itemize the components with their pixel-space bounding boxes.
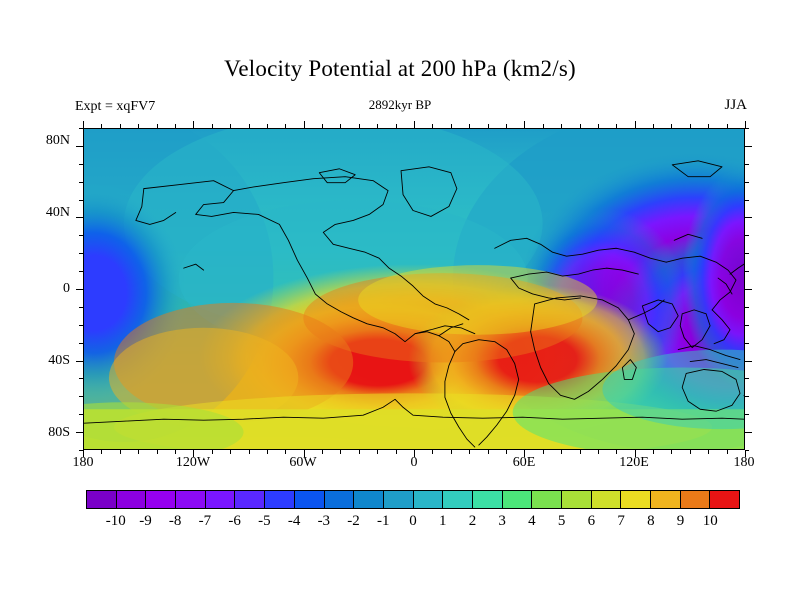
- y-tick: [79, 235, 83, 236]
- y-tick: [745, 164, 749, 165]
- colorbar-tick--2: -2: [347, 513, 360, 530]
- x-tick: [598, 450, 599, 454]
- x-tick: [506, 450, 507, 454]
- colorbar-cell-15: [532, 491, 562, 508]
- x-tick: [469, 124, 470, 128]
- x-tick: [212, 450, 213, 454]
- y-tick: [745, 253, 749, 254]
- colorbar-cell-8: [325, 491, 355, 508]
- x-tick: [359, 124, 360, 128]
- y-tick: [79, 325, 83, 326]
- x-tick: [267, 124, 268, 128]
- y-tick: [79, 396, 83, 397]
- x-tick: [524, 121, 525, 128]
- y-tick: [745, 325, 749, 326]
- colorbar-tick-10: 10: [703, 513, 718, 530]
- colorbar-cell-17: [592, 491, 622, 508]
- x-tick: [727, 450, 728, 454]
- experiment-label: Expt = xqFV7: [75, 99, 155, 115]
- x-tick: [488, 124, 489, 128]
- y-tick: [745, 200, 749, 201]
- x-tick: [671, 450, 672, 454]
- y-tick: [79, 200, 83, 201]
- y-tick: [79, 182, 83, 183]
- x-tick-label-0: 0: [411, 455, 418, 471]
- colorbar-tick-4: 4: [528, 513, 536, 530]
- y-tick: [79, 164, 83, 165]
- colorbar[interactable]: [86, 490, 740, 509]
- colorbar-tick--4: -4: [288, 513, 301, 530]
- y-tick: [745, 307, 749, 308]
- colorbar-cell-7: [295, 491, 325, 508]
- x-tick-label-180e: 180: [734, 455, 755, 471]
- x-tick: [543, 124, 544, 128]
- x-tick: [120, 450, 121, 454]
- x-tick: [635, 121, 636, 128]
- x-tick: [561, 450, 562, 454]
- y-tick: [79, 271, 83, 272]
- colorbar-tick--6: -6: [228, 513, 241, 530]
- x-tick: [175, 450, 176, 454]
- x-tick: [580, 124, 581, 128]
- y-tick-label-40s: 40S: [18, 353, 70, 369]
- page-title: Velocity Potential at 200 hPa (km2/s): [0, 56, 800, 82]
- x-tick: [212, 124, 213, 128]
- y-tick: [76, 217, 83, 218]
- x-tick: [580, 450, 581, 454]
- y-tick-label-40n: 40N: [18, 205, 70, 221]
- x-tick: [469, 450, 470, 454]
- y-tick: [79, 378, 83, 379]
- figure-canvas: Velocity Potential at 200 hPa (km2/s) 28…: [0, 0, 800, 600]
- x-tick: [671, 124, 672, 128]
- field-layer: [84, 129, 744, 449]
- colorbar-cell-14: [503, 491, 533, 508]
- y-tick: [745, 378, 749, 379]
- x-tick: [543, 450, 544, 454]
- y-tick: [79, 253, 83, 254]
- colorbar-cell-21: [710, 491, 739, 508]
- colorbar-tick--9: -9: [139, 513, 152, 530]
- y-tick: [79, 128, 83, 129]
- x-tick: [304, 450, 305, 457]
- x-tick: [598, 124, 599, 128]
- colorbar-tick-9: 9: [677, 513, 685, 530]
- x-tick: [432, 124, 433, 128]
- x-tick: [249, 450, 250, 454]
- colorbar-tick-6: 6: [588, 513, 596, 530]
- colorbar-cell-1: [117, 491, 147, 508]
- colorbar-tick--3: -3: [318, 513, 331, 530]
- y-tick: [745, 414, 749, 415]
- y-tick: [76, 432, 83, 433]
- x-tick: [138, 450, 139, 454]
- x-tick: [157, 450, 158, 454]
- colorbar-tick-5: 5: [558, 513, 566, 530]
- y-tick: [745, 182, 749, 183]
- x-tick: [322, 450, 323, 454]
- colorbar-tick--10: -10: [106, 513, 126, 530]
- colorbar-cell-3: [176, 491, 206, 508]
- x-tick: [377, 450, 378, 454]
- x-tick: [396, 450, 397, 454]
- y-tick: [745, 289, 752, 290]
- x-tick: [230, 124, 231, 128]
- x-tick: [340, 124, 341, 128]
- y-tick-label-80n: 80N: [18, 133, 70, 149]
- y-tick: [79, 414, 83, 415]
- colorbar-cell-5: [235, 491, 265, 508]
- x-tick: [432, 450, 433, 454]
- x-tick: [690, 124, 691, 128]
- x-tick: [414, 121, 415, 128]
- x-tick: [690, 450, 691, 454]
- colorbar-cell-9: [354, 491, 384, 508]
- x-tick: [193, 450, 194, 457]
- x-tick-label-120w: 120W: [176, 455, 210, 471]
- colorbar-cell-11: [414, 491, 444, 508]
- x-tick: [120, 124, 121, 128]
- y-tick: [745, 396, 749, 397]
- x-tick: [708, 450, 709, 454]
- x-tick: [561, 124, 562, 128]
- colorbar-cell-6: [265, 491, 295, 508]
- y-tick: [79, 450, 83, 451]
- x-tick: [451, 450, 452, 454]
- colorbar-cell-19: [651, 491, 681, 508]
- colorbar-tick-7: 7: [617, 513, 625, 530]
- y-tick: [76, 361, 83, 362]
- x-tick: [267, 450, 268, 454]
- x-tick: [138, 124, 139, 128]
- colorbar-cell-0: [87, 491, 117, 508]
- x-tick: [101, 450, 102, 454]
- x-tick: [616, 450, 617, 454]
- x-tick: [83, 450, 84, 457]
- x-tick: [304, 121, 305, 128]
- x-tick: [322, 124, 323, 128]
- colorbar-cell-16: [562, 491, 592, 508]
- x-tick: [414, 450, 415, 457]
- x-tick-label-120e: 120E: [619, 455, 649, 471]
- y-tick: [79, 343, 83, 344]
- x-tick: [745, 450, 746, 457]
- x-tick-label-180w: 180: [73, 455, 94, 471]
- y-tick: [79, 307, 83, 308]
- x-tick: [451, 124, 452, 128]
- y-tick-label-80s: 80S: [18, 425, 70, 441]
- y-tick: [76, 146, 83, 147]
- y-tick-label-0: 0: [18, 281, 70, 297]
- colorbar-tick--1: -1: [377, 513, 390, 530]
- x-tick: [635, 450, 636, 457]
- y-tick: [745, 146, 752, 147]
- colorbar-tick--5: -5: [258, 513, 271, 530]
- x-tick: [340, 450, 341, 454]
- x-tick: [745, 121, 746, 128]
- x-tick: [157, 124, 158, 128]
- colorbar-tick-3: 3: [498, 513, 506, 530]
- x-tick: [230, 450, 231, 454]
- y-tick: [745, 450, 749, 451]
- x-tick: [708, 124, 709, 128]
- y-tick: [745, 271, 749, 272]
- x-tick-label-60w: 60W: [289, 455, 316, 471]
- x-tick: [727, 124, 728, 128]
- x-tick: [101, 124, 102, 128]
- y-tick: [745, 217, 752, 218]
- colorbar-tick-8: 8: [647, 513, 655, 530]
- colorbar-tick-1: 1: [439, 513, 447, 530]
- x-tick: [653, 450, 654, 454]
- colorbar-cell-18: [621, 491, 651, 508]
- x-tick: [396, 124, 397, 128]
- colorbar-cell-2: [146, 491, 176, 508]
- colorbar-tick--7: -7: [199, 513, 212, 530]
- x-tick: [249, 124, 250, 128]
- colorbar-tick-0: 0: [409, 513, 417, 530]
- x-tick: [175, 124, 176, 128]
- x-tick: [285, 450, 286, 454]
- velocity-potential-field: [84, 129, 744, 449]
- colorbar-cell-4: [206, 491, 236, 508]
- colorbar-cell-10: [384, 491, 414, 508]
- colorbar-tick-2: 2: [469, 513, 477, 530]
- y-tick: [76, 289, 83, 290]
- y-tick: [745, 432, 752, 433]
- x-tick: [359, 450, 360, 454]
- season-label: JJA: [724, 97, 747, 114]
- colorbar-cell-13: [473, 491, 503, 508]
- map-plot-area: [83, 128, 745, 450]
- x-tick-label-60e: 60E: [513, 455, 536, 471]
- x-tick: [193, 121, 194, 128]
- x-tick: [377, 124, 378, 128]
- x-tick: [616, 124, 617, 128]
- colorbar-cell-12: [443, 491, 473, 508]
- x-tick: [285, 124, 286, 128]
- x-tick: [653, 124, 654, 128]
- x-tick: [506, 124, 507, 128]
- y-tick: [745, 343, 749, 344]
- x-tick: [524, 450, 525, 457]
- colorbar-tick--8: -8: [169, 513, 182, 530]
- x-tick: [488, 450, 489, 454]
- y-tick: [745, 361, 752, 362]
- x-tick: [83, 121, 84, 128]
- y-tick: [745, 235, 749, 236]
- y-tick: [745, 128, 749, 129]
- colorbar-cell-20: [681, 491, 711, 508]
